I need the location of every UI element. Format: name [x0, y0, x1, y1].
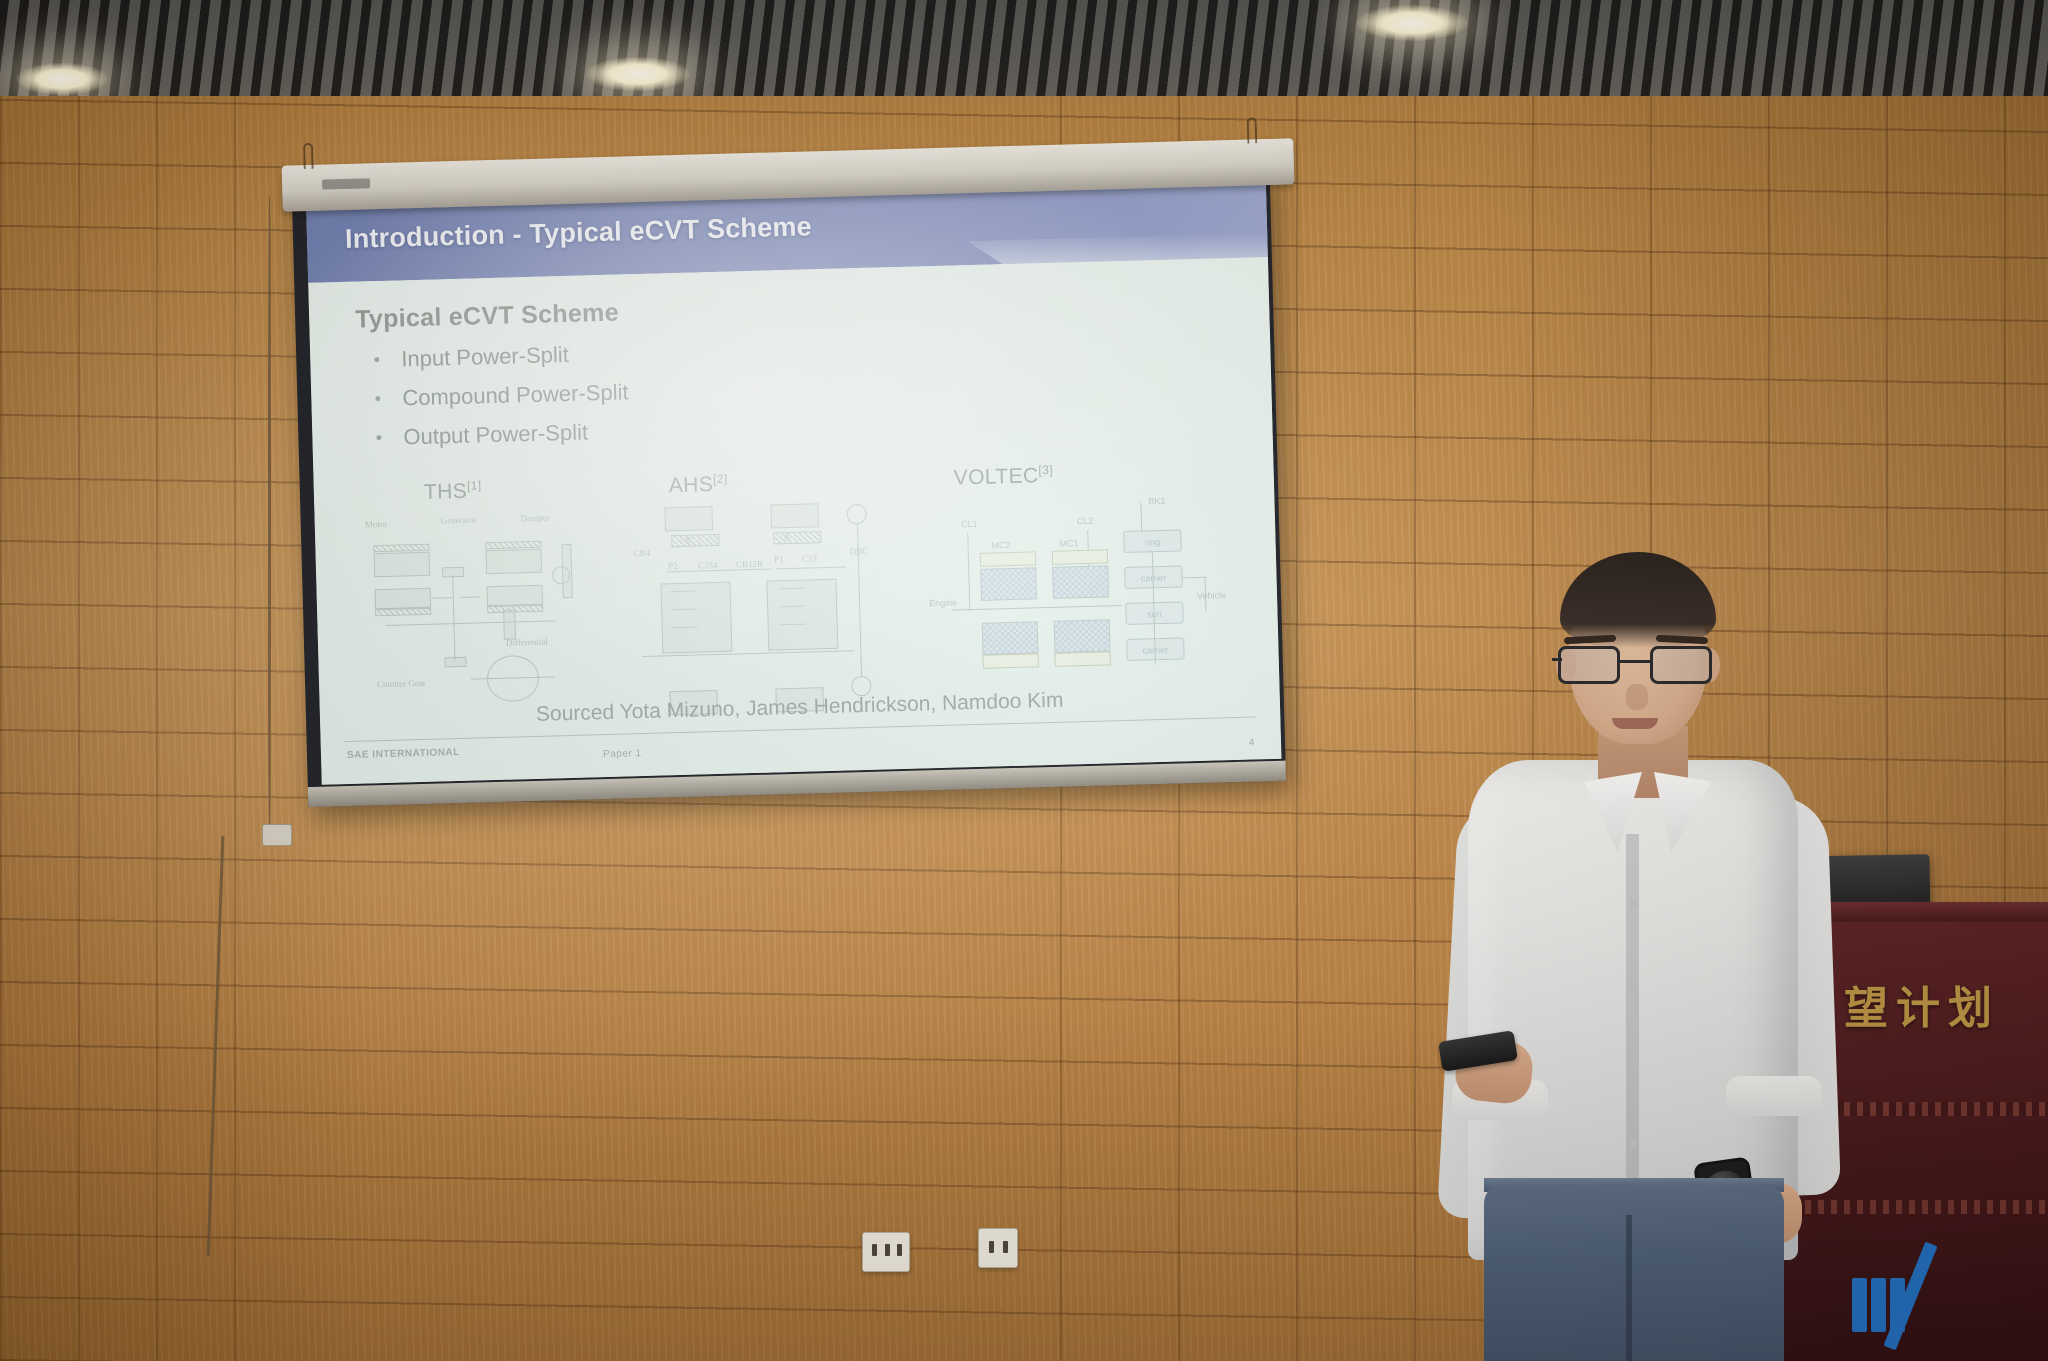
- voltec-mc1-rotor-top: [1052, 565, 1109, 599]
- list-item: Compound Power-Split: [375, 379, 629, 412]
- ahs-label-p2: P2: [668, 561, 678, 571]
- projector-screen[interactable]: Introduction - Typical eCVT Scheme Typic…: [292, 173, 1286, 807]
- voltec-mc2-winding-bottom: [983, 653, 1039, 669]
- voltec-label-cl1: CL1: [961, 519, 978, 529]
- slide-title: Introduction - Typical eCVT Scheme: [345, 211, 813, 255]
- diagram-title-ths: THS[1]: [424, 478, 482, 505]
- diagram-title-ths-text: THS: [424, 480, 468, 504]
- list-item: Output Power-Split: [376, 418, 630, 451]
- ceiling-light-3: [1356, 4, 1468, 42]
- voltec-label-engine: Engine: [929, 597, 957, 608]
- diagram-title-voltec-text: VOLTEC: [953, 464, 1038, 489]
- voltec-cl1-stem: [967, 533, 970, 611]
- lectern-decorative-band-lower: [1766, 1200, 2048, 1214]
- ths-output-shaft-block: [503, 609, 516, 639]
- slide-body: Typical eCVT Scheme Input Power-Split Co…: [308, 257, 1281, 785]
- ahs-carrier-right: [766, 579, 838, 651]
- glasses-lens-right: [1650, 646, 1712, 684]
- ths-label-damper: Damper: [521, 512, 550, 523]
- voltec-mc1-winding-top: [1052, 549, 1108, 565]
- glasses-icon: [1552, 646, 1724, 686]
- bullet-label: Input Power-Split: [401, 342, 569, 373]
- voltec-label-bk1: BK1: [1148, 496, 1165, 506]
- shirt-button: [1629, 1140, 1637, 1148]
- ths-shaft-main: [386, 620, 556, 626]
- diagram-title-ths-ref: [1]: [467, 478, 482, 492]
- ahs-label-dbc: DBC: [850, 546, 869, 556]
- ahs-rail-right: [776, 566, 846, 569]
- socket-hole: [885, 1244, 890, 1256]
- bullet-list: Input Power-Split Compound Power-Split O…: [374, 340, 630, 464]
- voltec-engine-shaft: [951, 605, 1121, 611]
- ths-planetary-gear: [442, 567, 464, 578]
- ths-label-motor: Motor: [365, 519, 388, 530]
- voltec-label-cl2: CL2: [1077, 516, 1094, 526]
- socket-hole: [1003, 1241, 1008, 1253]
- screen-mount-hook-left: [303, 143, 314, 169]
- ahs-motor-top-left: [664, 506, 713, 531]
- ths-motor-block-top: [374, 552, 431, 578]
- ths-label-counter-gear: Counter Gear: [377, 678, 426, 689]
- bullet-label: Output Power-Split: [403, 419, 588, 450]
- wall-cable-plate: [262, 824, 292, 846]
- diagram-title-ahs-text: AHS: [669, 473, 714, 497]
- voltec-label-vehicle: Vehicle: [1197, 590, 1226, 601]
- socket-hole: [872, 1244, 877, 1256]
- diagram-title-ahs: AHS[2]: [669, 472, 729, 499]
- shirt-cuff-right: [1726, 1076, 1822, 1116]
- lectern-logo-icon: [1852, 1246, 1962, 1332]
- screen-power-cable: [268, 196, 271, 836]
- voltec-label-mc2: MC2: [991, 540, 1010, 551]
- ths-generator-block-bottom: [486, 585, 543, 607]
- glasses-temple: [1552, 658, 1562, 661]
- logo-bar: [1871, 1278, 1886, 1332]
- glasses-lens-left: [1558, 646, 1620, 684]
- shirt-button: [1629, 980, 1637, 988]
- diagram-title-voltec-ref: [3]: [1038, 463, 1053, 477]
- ths-gear-tooth-1: [433, 597, 453, 599]
- voltec-mc2-rotor-top: [980, 567, 1037, 601]
- footer-organization: SAE INTERNATIONAL: [347, 747, 460, 761]
- ahs-dbc-disc-top: [846, 504, 867, 525]
- voltec-mc2-winding-top: [980, 551, 1036, 567]
- ths-gear-tooth-2: [461, 596, 481, 598]
- ths-label-generator: Generator: [441, 514, 477, 525]
- shirt-button: [1629, 1060, 1637, 1068]
- bullet-dot-icon: [374, 357, 379, 362]
- slide-subheading: Typical eCVT Scheme: [355, 299, 619, 335]
- power-socket-right[interactable]: [978, 1228, 1018, 1268]
- screen-brand-logo: [322, 178, 370, 189]
- ahs-label-p1: P1: [774, 554, 784, 564]
- bullet-label: Compound Power-Split: [402, 379, 629, 411]
- socket-hole: [989, 1241, 994, 1253]
- footer-paper-id: Paper 1: [603, 748, 642, 760]
- voltec-ring-node: ring: [1123, 529, 1182, 553]
- voltec-mc2-rotor-bottom: [982, 621, 1039, 655]
- presentation-slide: Introduction - Typical eCVT Scheme Typic…: [306, 177, 1281, 785]
- ths-shaft-v1: [452, 575, 455, 661]
- bullet-dot-icon: [375, 396, 380, 401]
- ahs-label-c234: C234: [698, 560, 718, 571]
- ths-ground-hatch-2: [375, 608, 431, 617]
- screen-mount-hook-right: [1247, 117, 1258, 143]
- bullet-dot-icon: [376, 435, 381, 440]
- shirt-placket: [1626, 834, 1639, 1234]
- ahs-clutch-pack-right: [773, 531, 821, 544]
- ths-generator-block-top: [486, 549, 543, 575]
- presenter-nose: [1626, 684, 1648, 710]
- ahs-rail-left: [666, 568, 772, 572]
- power-socket-left[interactable]: [862, 1232, 910, 1272]
- ahs-clutch-pack-left: [671, 534, 719, 547]
- voltec-label-mc1: MC1: [1059, 538, 1078, 549]
- voltec-mc1-rotor-bottom: [1054, 619, 1111, 653]
- socket-hole: [897, 1244, 902, 1256]
- voltec-bk1-stem: [1140, 502, 1142, 532]
- presenter-jeans: [1484, 1185, 1784, 1361]
- voltec-mc1-winding-bottom: [1055, 651, 1111, 667]
- ths-motor-block-bottom: [375, 588, 432, 610]
- presenter-mouth: [1612, 718, 1658, 729]
- list-item: Input Power-Split: [374, 340, 628, 373]
- ceiling-light-1: [16, 62, 108, 96]
- shirt-button: [1629, 900, 1637, 908]
- footer-page-number: 4: [1249, 737, 1255, 748]
- ceiling-light-2: [586, 56, 690, 92]
- ahs-carrier-left: [660, 582, 732, 654]
- ahs-motor-top-right: [770, 503, 819, 528]
- lecture-room-scene: Introduction - Typical eCVT Scheme Typic…: [0, 0, 2048, 1361]
- logo-bar: [1852, 1278, 1867, 1332]
- ahs-label-c13: C13: [802, 553, 817, 563]
- glasses-bridge: [1620, 660, 1650, 663]
- ahs-label-cb4: CB4: [634, 548, 651, 558]
- voltec-output-link: [1183, 577, 1207, 579]
- diagram-title-voltec: VOLTEC[3]: [953, 463, 1053, 491]
- diagram-title-ahs-ref: [2]: [713, 472, 728, 486]
- ths-counter-gear-block: [444, 657, 466, 668]
